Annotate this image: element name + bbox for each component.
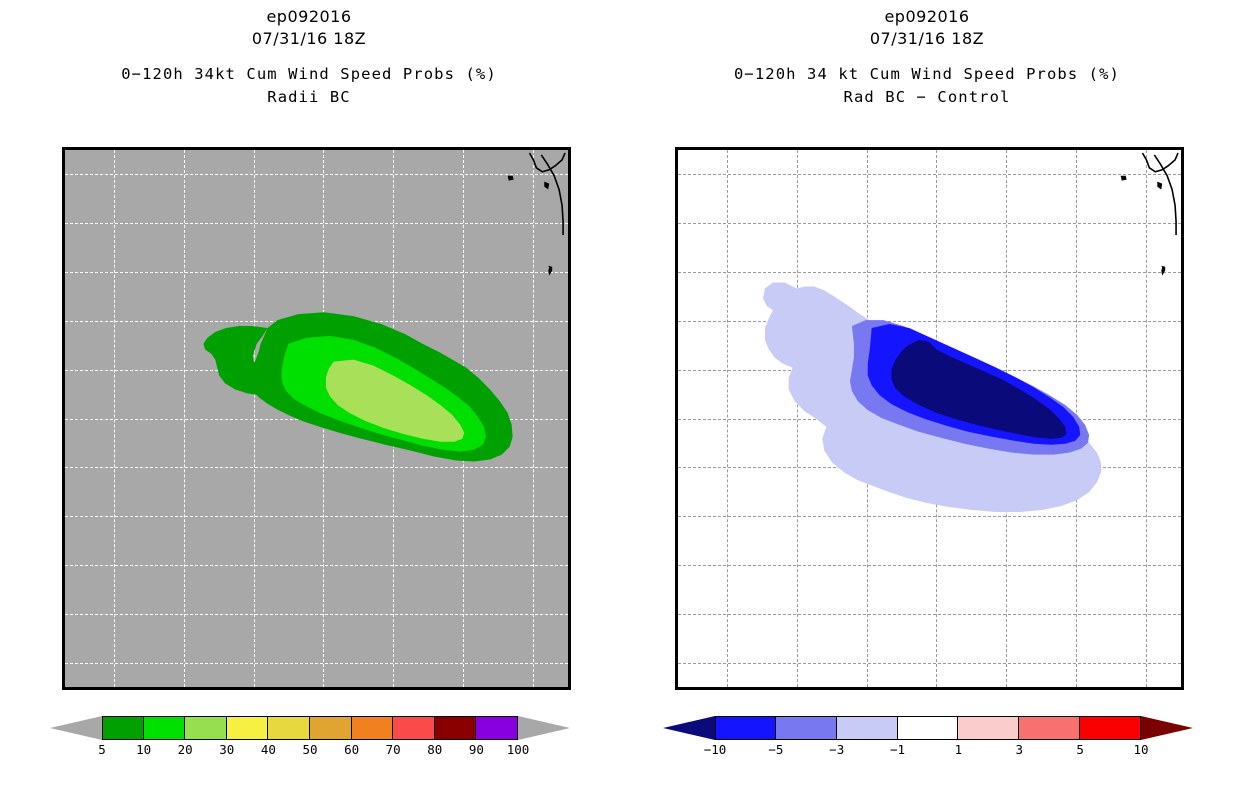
colorbar-under-arrow: [50, 716, 102, 740]
colorbar-swatch-6: [352, 716, 394, 740]
colorbar-swatch-4: [268, 716, 310, 740]
colorbar-swatch-5: [1019, 716, 1080, 740]
colorbar-tick-label-3: 30: [219, 742, 234, 757]
coastline-left: [65, 150, 568, 687]
island-dot-2: [1157, 182, 1162, 190]
colorbar-swatch-0: [102, 716, 144, 740]
map-plot-right: 33N30N27N24N21N18N15N12N9N6N3N150W145W14…: [675, 147, 1184, 690]
island-dot-1: [508, 176, 514, 181]
colorbar-left-swatches: [50, 716, 570, 740]
colorbar-tick-label-4: 1: [955, 742, 963, 757]
x-axis-tick-120W: 120W: [1132, 687, 1160, 690]
colorbar-right: −10−5−3−113510: [663, 716, 1193, 776]
colorbar-swatch-1: [776, 716, 837, 740]
island-dot-3: [548, 266, 552, 276]
storm-id: ep092016: [618, 6, 1236, 28]
colorbar-swatch-2: [837, 716, 898, 740]
forecast-datetime: 07/31/16 18Z: [618, 28, 1236, 50]
x-axis-tick-125W: 125W: [449, 687, 477, 690]
coastline-right: [678, 150, 1181, 687]
colorbar-right-swatches: [663, 716, 1193, 740]
colorbar-tick-label-7: 10: [1133, 742, 1148, 757]
x-axis-tick-130W: 130W: [992, 687, 1020, 690]
x-axis-tick-120W: 120W: [519, 687, 547, 690]
panel-subtitle: Radii BC: [0, 86, 618, 108]
island-dot-3: [1161, 266, 1165, 276]
colorbar-left: 5102030405060708090100: [50, 716, 570, 776]
island-dot-1: [1121, 176, 1127, 181]
x-axis-tick-135W: 135W: [923, 687, 951, 690]
panel-title: 0−120h 34 kt Cum Wind Speed Probs (%): [618, 62, 1236, 86]
colorbar-tick-label-6: 60: [344, 742, 359, 757]
colorbar-tick-label-2: −3: [829, 742, 844, 757]
panel-left-titles: ep092016 07/31/16 18Z 0−120h 34kt Cum Wi…: [0, 6, 618, 108]
colorbar-tick-label-10: 100: [507, 742, 530, 757]
colorbar-tick-label-5: 3: [1016, 742, 1024, 757]
x-axis-tick-150W: 150W: [713, 687, 741, 690]
x-axis-tick-150W: 150W: [100, 687, 128, 690]
x-axis-tick-125W: 125W: [1062, 687, 1090, 690]
colorbar-swatch-9: [476, 716, 518, 740]
colorbar-over-arrow: [518, 716, 570, 740]
colorbar-tick-label-6: 5: [1076, 742, 1084, 757]
baja-coastline-path: [529, 153, 565, 172]
colorbar-tick-label-3: −1: [890, 742, 905, 757]
forecast-datetime: 07/31/16 18Z: [0, 28, 618, 50]
storm-id: ep092016: [0, 6, 618, 28]
colorbar-tick-label-1: 10: [136, 742, 151, 757]
colorbar-tick-label-2: 20: [178, 742, 193, 757]
colorbar-swatch-2: [185, 716, 227, 740]
colorbar-tick-label-9: 90: [469, 742, 484, 757]
colorbar-tick-label-1: −5: [768, 742, 783, 757]
colorbar-swatch-4: [958, 716, 1019, 740]
panel-left: ep092016 07/31/16 18Z 0−120h 34kt Cum Wi…: [0, 0, 618, 800]
colorbar-tick-label-0: 5: [98, 742, 106, 757]
colorbar-swatch-8: [435, 716, 477, 740]
colorbar-under-arrow: [663, 716, 715, 740]
baja-coastline-path: [1142, 153, 1178, 172]
x-axis-tick-140W: 140W: [853, 687, 881, 690]
colorbar-right-labels: −10−5−3−113510: [663, 742, 1193, 762]
colorbar-swatch-5: [310, 716, 352, 740]
panel-title: 0−120h 34kt Cum Wind Speed Probs (%): [0, 62, 618, 86]
island-dot-2: [544, 182, 549, 190]
map-plot-left: 33N30N27N24N21N18N15N12N9N6N3N150W145W14…: [62, 147, 571, 690]
panel-subtitle: Rad BC − Control: [618, 86, 1236, 108]
colorbar-over-arrow: [1141, 716, 1193, 740]
colorbar-swatch-3: [227, 716, 269, 740]
colorbar-swatch-3: [898, 716, 959, 740]
colorbar-tick-label-0: −10: [704, 742, 727, 757]
x-axis-tick-135W: 135W: [310, 687, 338, 690]
colorbar-left-labels: 5102030405060708090100: [50, 742, 570, 762]
colorbar-swatch-1: [144, 716, 186, 740]
colorbar-tick-label-8: 80: [427, 742, 442, 757]
panel-right-titles: ep092016 07/31/16 18Z 0−120h 34 kt Cum W…: [618, 6, 1236, 108]
colorbar-swatch-0: [715, 716, 776, 740]
x-axis-tick-130W: 130W: [379, 687, 407, 690]
colorbar-tick-label-7: 70: [386, 742, 401, 757]
x-axis-tick-140W: 140W: [240, 687, 268, 690]
x-axis-tick-145W: 145W: [170, 687, 198, 690]
panel-right: ep092016 07/31/16 18Z 0−120h 34 kt Cum W…: [618, 0, 1236, 800]
colorbar-tick-label-4: 40: [261, 742, 276, 757]
colorbar-tick-label-5: 50: [302, 742, 317, 757]
colorbar-swatch-6: [1080, 716, 1141, 740]
x-axis-tick-145W: 145W: [783, 687, 811, 690]
colorbar-swatch-7: [393, 716, 435, 740]
